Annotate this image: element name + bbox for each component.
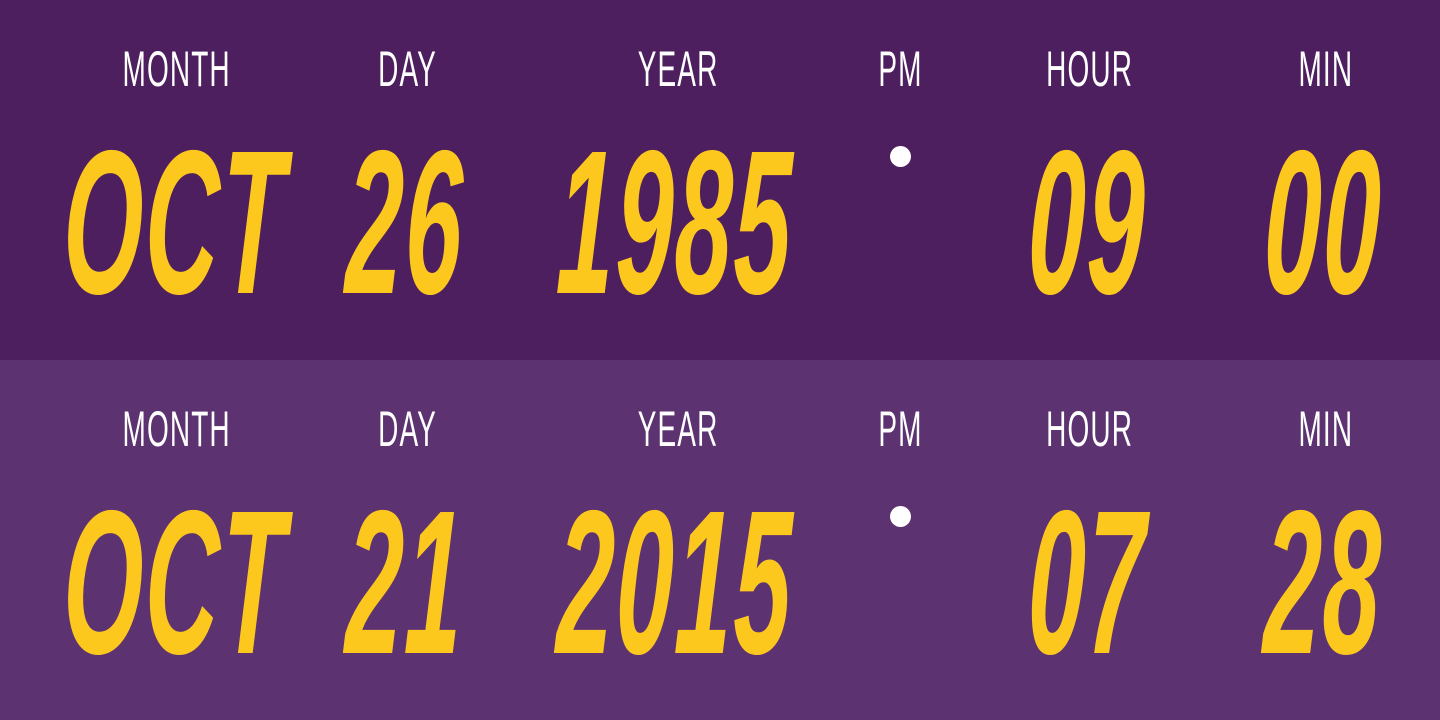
field-label-year: YEAR bbox=[638, 404, 719, 454]
flux-capacitor-time-display: MONTH OCT DAY 26 YEAR 1985 PM HOUR 09 MI… bbox=[0, 0, 1440, 720]
field-value-hour: 09 bbox=[1026, 120, 1149, 325]
field-label-year: YEAR bbox=[638, 44, 719, 94]
field-day-destination[interactable]: DAY 26 bbox=[300, 0, 500, 360]
field-ampm-destination[interactable]: PM bbox=[830, 0, 970, 360]
destination-time-row: MONTH OCT DAY 26 YEAR 1985 PM HOUR 09 MI… bbox=[0, 0, 1440, 360]
field-label-day: DAY bbox=[379, 44, 438, 94]
field-label-month: MONTH bbox=[123, 404, 231, 454]
field-hour-present[interactable]: HOUR 07 bbox=[970, 360, 1200, 720]
field-value-year: 1985 bbox=[555, 120, 796, 325]
field-month-destination[interactable]: MONTH OCT bbox=[0, 0, 300, 360]
field-label-month: MONTH bbox=[123, 44, 231, 94]
field-label-pm: PM bbox=[878, 44, 922, 94]
field-value-day: 21 bbox=[344, 480, 467, 685]
pm-indicator-lamp-icon[interactable] bbox=[890, 146, 911, 167]
field-value-month: OCT bbox=[60, 480, 288, 685]
field-label-day: DAY bbox=[379, 404, 438, 454]
field-label-min: MIN bbox=[1299, 44, 1354, 94]
field-value-year: 2015 bbox=[555, 480, 796, 685]
field-label-min: MIN bbox=[1299, 404, 1354, 454]
field-label-pm: PM bbox=[878, 404, 922, 454]
field-value-min: 00 bbox=[1262, 120, 1385, 325]
field-ampm-present[interactable]: PM bbox=[830, 360, 970, 720]
field-day-present[interactable]: DAY 21 bbox=[300, 360, 500, 720]
field-min-present[interactable]: MIN 28 bbox=[1200, 360, 1440, 720]
field-year-present[interactable]: YEAR 2015 bbox=[500, 360, 830, 720]
field-value-day: 26 bbox=[344, 120, 467, 325]
field-value-month: OCT bbox=[60, 120, 288, 325]
pm-indicator-wrap bbox=[830, 146, 970, 167]
field-value-min: 28 bbox=[1262, 480, 1385, 685]
field-year-destination[interactable]: YEAR 1985 bbox=[500, 0, 830, 360]
field-label-hour: HOUR bbox=[1047, 44, 1134, 94]
field-min-destination[interactable]: MIN 00 bbox=[1200, 0, 1440, 360]
pm-indicator-lamp-icon[interactable] bbox=[890, 506, 911, 527]
field-label-hour: HOUR bbox=[1047, 404, 1134, 454]
field-value-hour: 07 bbox=[1026, 480, 1149, 685]
field-month-present[interactable]: MONTH OCT bbox=[0, 360, 300, 720]
field-hour-destination[interactable]: HOUR 09 bbox=[970, 0, 1200, 360]
pm-indicator-wrap bbox=[830, 506, 970, 527]
present-time-row: MONTH OCT DAY 21 YEAR 2015 PM HOUR 07 MI… bbox=[0, 360, 1440, 720]
